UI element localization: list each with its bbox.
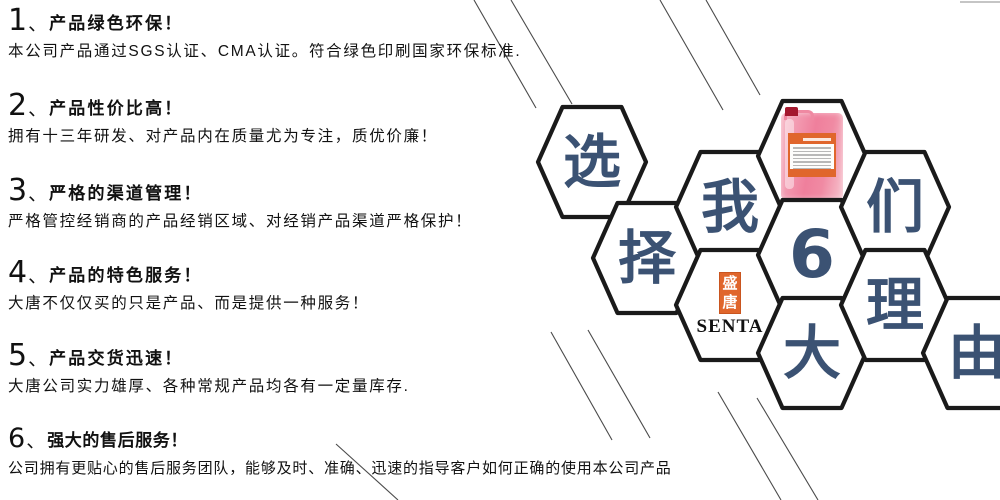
label-footer-band [790,169,834,175]
jerrycan-icon [781,113,843,199]
jerrycan-label [788,133,836,177]
brand-seal-icon: 盛 唐 [719,272,741,314]
seal-char-top: 盛 [722,276,737,291]
hex-label: 由 [918,294,1000,412]
jerrycan-cap [785,107,798,116]
promo-panel: 1 、 产品绿色环保！ 本公司产品通过SGS认证、CMA认证。符合绿色印刷国家环… [0,0,1000,500]
seal-char-bottom: 唐 [722,295,737,310]
label-header-band [790,135,834,144]
honeycomb-graphic: 选 择 我 盛 唐 SENTA [0,0,1000,500]
hex-cell-you: 由 [918,294,1000,412]
